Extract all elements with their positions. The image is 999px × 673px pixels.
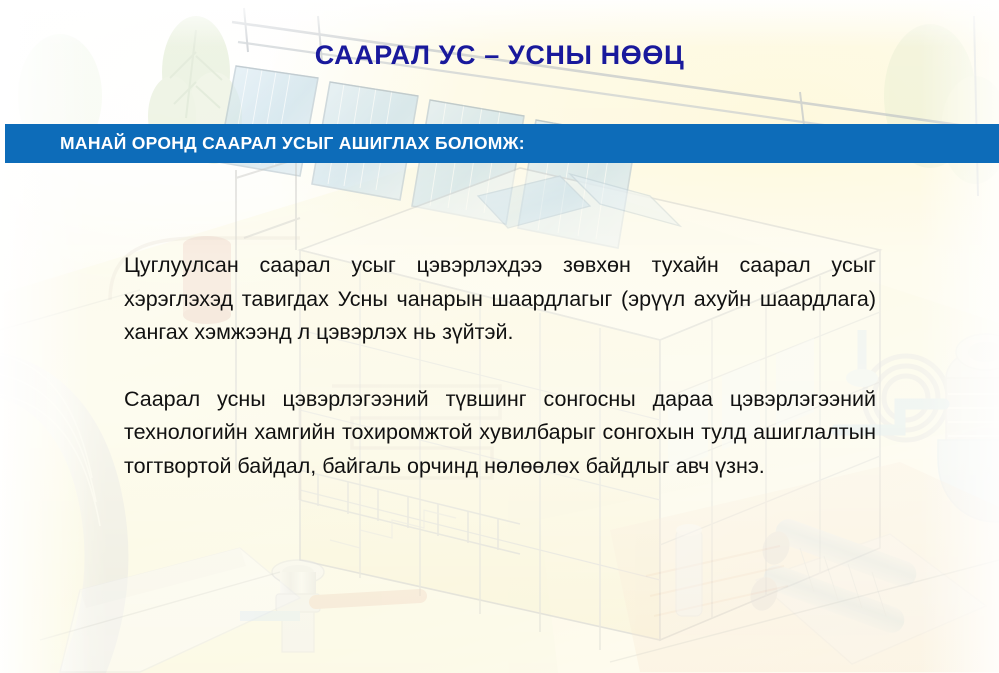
section-banner-label: МАНАЙ ОРОНД СААРАЛ УСЫГ АШИГЛАХ БОЛОМЖ: <box>60 124 525 163</box>
paragraph-1: Цуглуулсан саарал усыг цэвэрлэхдээ зөвхө… <box>124 249 876 350</box>
body-content: Цуглуулсан саарал усыг цэвэрлэхдээ зөвхө… <box>124 249 876 483</box>
page-title: СААРАЛ УС – УСНЫ НӨӨЦ <box>0 40 999 71</box>
section-banner: МАНАЙ ОРОНД СААРАЛ УСЫГ АШИГЛАХ БОЛОМЖ: <box>5 124 999 163</box>
paragraph-2: Саарал усны цэвэрлэгээний түвшинг сонгос… <box>124 383 876 484</box>
slide-canvas: СААРАЛ УС – УСНЫ НӨӨЦ МАНАЙ ОРОНД СААРАЛ… <box>0 0 999 673</box>
